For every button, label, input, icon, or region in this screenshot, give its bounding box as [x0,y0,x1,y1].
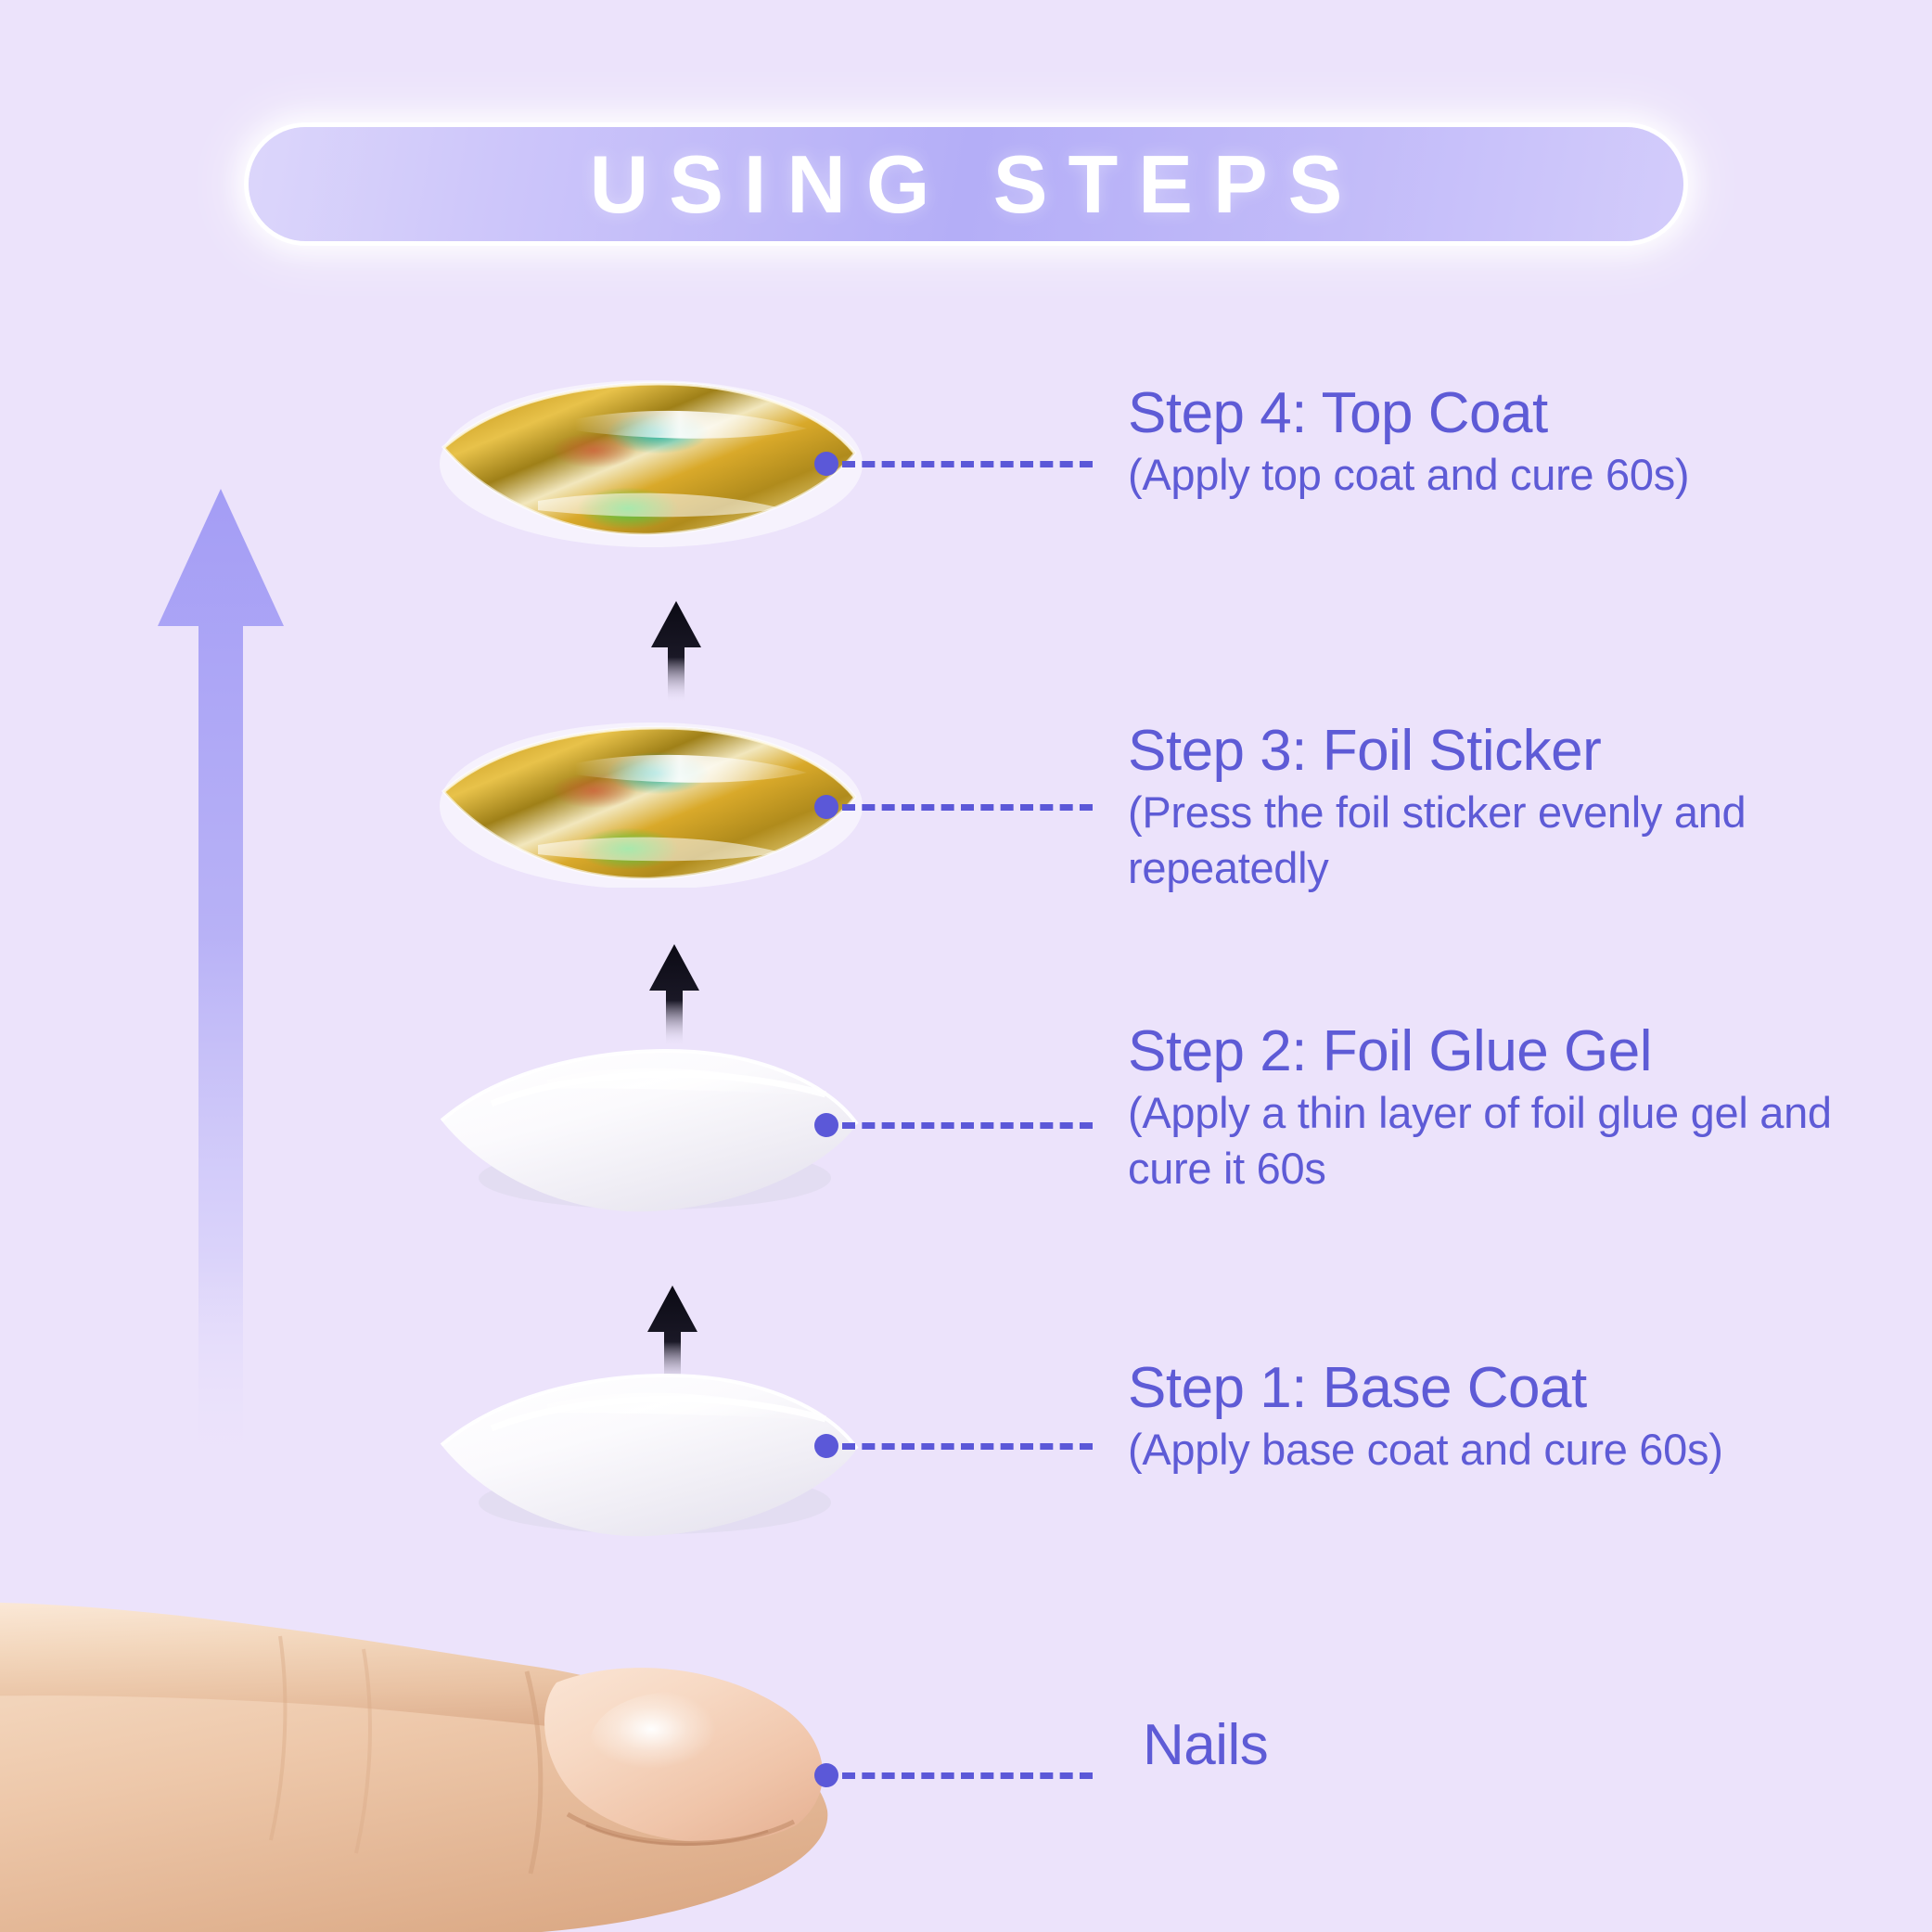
fingertip-photo [0,1579,874,1932]
step-subtitle: (Apply base coat and cure 60s) [1128,1422,1851,1478]
nails-label: Nails [1143,1712,1268,1778]
step-title: Step 1: Base Coat [1128,1358,1851,1420]
step-subtitle: (Apply a thin layer of foil glue gel and… [1128,1085,1851,1196]
step-title: Step 4: Top Coat [1128,383,1851,445]
connector-dashed-line [842,1772,1093,1779]
clear-nail-icon [436,1363,863,1540]
step-block-step-4: Step 4: Top Coat (Apply top coat and cur… [1128,383,1851,503]
step-block-step-3: Step 3: Foil Sticker (Press the foil sti… [1128,721,1851,896]
connector-dashed-line [842,1443,1093,1450]
page-title: USING STEPS [569,144,1363,225]
step-block-step-2: Step 2: Foil Glue Gel (Apply a thin laye… [1128,1021,1851,1196]
step-subtitle: (Press the foil sticker evenly and repea… [1128,785,1851,896]
step-title: Step 3: Foil Sticker [1128,721,1851,783]
gold-foil-nail-icon [436,711,863,888]
header-banner: USING STEPS [249,127,1683,241]
up-arrow-small-icon [649,944,699,1046]
step-block-step-1: Step 1: Base Coat (Apply base coat and c… [1128,1358,1851,1478]
up-arrow-small-icon [651,601,701,703]
connector-dashed-line [842,804,1093,811]
up-arrow-icon [158,489,284,1472]
clear-nail-icon [436,1039,863,1215]
using-steps-infographic: USING STEPS [0,0,1932,1932]
connector-dashed-line [842,1122,1093,1129]
step-subtitle: (Apply top coat and cure 60s) [1128,447,1851,503]
step-title: Step 2: Foil Glue Gel [1128,1021,1851,1083]
connector-dashed-line [842,461,1093,467]
gold-foil-nail-icon [436,371,863,547]
